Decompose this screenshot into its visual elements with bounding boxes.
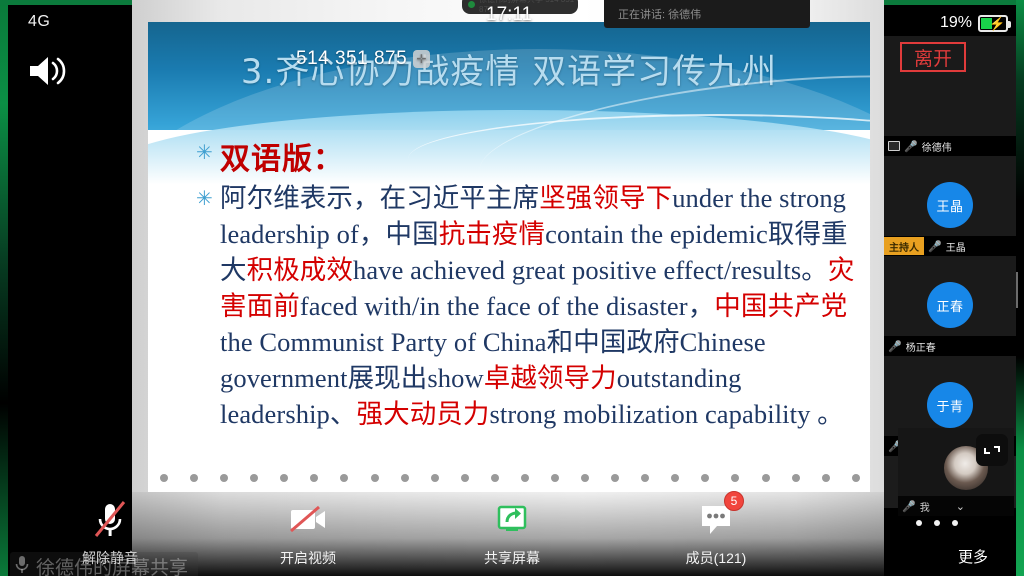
- slide-decor-dot: [401, 474, 409, 482]
- self-view-name: 我: [920, 499, 930, 514]
- slide-heading: 双语版：: [220, 134, 344, 178]
- slide-text-run: 卓越领导力: [484, 363, 617, 393]
- slide-decor-dot: [611, 474, 619, 482]
- slide-body-text: 阿尔维表示，在习近平主席坚强领导下under the strong leader…: [220, 180, 860, 432]
- participant-tile-wangjing[interactable]: 王晶 主持人 🎤 王晶: [884, 156, 1016, 256]
- bullet-star-icon: ✳: [196, 186, 213, 211]
- speaker-volume-icon[interactable]: [26, 53, 70, 89]
- chevron-down-icon[interactable]: ⌄: [956, 500, 965, 513]
- participant-name: 杨正春: [906, 339, 936, 354]
- active-speaker-label: 正在讲话: 徐德伟: [618, 6, 701, 22]
- app-root: 4G 19% ⚡ 3.齐心协力战疫情 双语学习传九州 ✳ 双语版: [0, 0, 1024, 576]
- slide-decor-dot: [731, 474, 739, 482]
- participant-tile-yangzhengchun[interactable]: 正春 🎤 杨正春: [884, 256, 1016, 356]
- slide-text-run: strong mobilization capability 。: [490, 399, 844, 429]
- slide-decor-dot: [461, 474, 469, 482]
- slide-text-run: faced with/in the face of the disaster，: [300, 291, 714, 321]
- slide-decor-dot: [762, 474, 770, 482]
- slide-text-run: 积极成效: [247, 255, 353, 285]
- slide-decor-dot: [491, 474, 499, 482]
- avatar: 于青: [927, 382, 973, 428]
- slide-decor-dot: [310, 474, 318, 482]
- chat-participants-icon: 5: [694, 500, 738, 540]
- avatar: 正春: [927, 282, 973, 328]
- self-view-thumbnail[interactable]: 🎤 我 ⌄: [898, 428, 1014, 516]
- slide-text-run: 阿尔维表示，在习近平主席: [220, 183, 539, 213]
- rail-page-indicator[interactable]: [916, 520, 958, 526]
- slide-text-run: 中国共产党: [714, 291, 847, 321]
- start-video-button[interactable]: 开启视频: [238, 500, 378, 568]
- battery-charging-icon: ⚡: [978, 15, 1008, 32]
- presentation-slide: 3.齐心协力战疫情 双语学习传九州 ✳ 双语版： ✳ 阿尔维表示，在习近平主席坚…: [148, 22, 870, 492]
- slide-decor-dot: [701, 474, 709, 482]
- recording-dot-icon: [468, 1, 475, 8]
- screen-share-icon: [888, 141, 900, 151]
- leave-tile: 离开: [884, 36, 1016, 136]
- host-badge: 主持人: [884, 237, 924, 255]
- status-bar-left: 4G: [8, 5, 132, 130]
- microphone-muted-icon: [88, 500, 132, 540]
- slide-text-run: 抗击疫情: [439, 219, 545, 249]
- slide-decor-dot: [250, 474, 258, 482]
- share-screen-icon: [490, 500, 534, 540]
- share-screen-label: 共享屏幕: [484, 548, 540, 568]
- participant-name: 徐德伟: [922, 139, 952, 154]
- leave-button[interactable]: 离开: [900, 42, 966, 72]
- slide-decor-dot: [190, 474, 198, 482]
- share-owner-banner: 徐德伟的屏幕共享: [10, 552, 198, 576]
- network-label: 4G: [28, 13, 50, 31]
- page-dot[interactable]: [916, 520, 922, 526]
- slide-decor-dot: [371, 474, 379, 482]
- slide-decor-dot: [671, 474, 679, 482]
- slide-text-run: 强大动员力: [357, 399, 490, 429]
- namebar: 🎤 杨正春: [884, 336, 1016, 356]
- page-dot[interactable]: [952, 520, 958, 526]
- device-edge-left: [0, 0, 8, 576]
- slide-decor-dot: [431, 474, 439, 482]
- microphone-muted-icon: 🎤: [888, 340, 902, 353]
- battery-percent-label: 19%: [940, 14, 972, 32]
- bullet-star-icon: ✳: [196, 140, 213, 165]
- meeting-id-label: 514 351 875: [296, 48, 407, 70]
- slide-text-run: 坚强领导下: [539, 183, 672, 213]
- slide-decor-dot: [521, 474, 529, 482]
- page-dot[interactable]: [934, 520, 940, 526]
- unread-badge: 5: [724, 491, 744, 511]
- start-video-label: 开启视频: [280, 548, 336, 568]
- avatar: 王晶: [927, 182, 973, 228]
- meeting-id-watermark: 514 351 875 ✛: [296, 48, 430, 70]
- namebar: 主持人 🎤 王晶: [884, 236, 1016, 256]
- slide-decor-dot: [220, 474, 228, 482]
- self-view-namebar: 🎤 我 ⌄: [898, 496, 1014, 516]
- slide-decor-dot: [792, 474, 800, 482]
- slide-decor-dots: [160, 474, 860, 482]
- more-button[interactable]: 更多: [958, 546, 988, 567]
- microphone-muted-icon: 🎤: [928, 240, 942, 253]
- lock-icon: ✛: [413, 50, 430, 68]
- slide-decor-dot: [340, 474, 348, 482]
- slide-decor-dot: [160, 474, 168, 482]
- participant-namebar-xudewei: 🎤 徐德伟: [884, 136, 1016, 156]
- active-speaker-notice: 正在讲话: 徐德伟: [604, 0, 810, 28]
- slide-text-run: have achieved great positive effect/resu…: [353, 255, 828, 285]
- rail-bottom-backdrop: [884, 508, 1016, 576]
- participant-name: 王晶: [946, 239, 966, 254]
- microphone-muted-icon: 🎤: [902, 500, 916, 513]
- clock-label: 17:11: [486, 4, 532, 26]
- slide-decor-dot: [822, 474, 830, 482]
- participants-button[interactable]: 5 成员(121): [646, 500, 786, 568]
- namebar: 🎤 徐德伟: [884, 136, 1016, 156]
- slide-decor-dot: [852, 474, 860, 482]
- microphone-icon: [14, 554, 30, 576]
- screen-share-viewport[interactable]: 3.齐心协力战疫情 双语学习传九州 ✳ 双语版： ✳ 阿尔维表示，在习近平主席坚…: [132, 0, 884, 576]
- microphone-on-icon: 🎤: [904, 140, 918, 153]
- minimize-icon[interactable]: [976, 434, 1008, 466]
- slide-decor-dot: [641, 474, 649, 482]
- share-owner-label: 徐德伟的屏幕共享: [36, 553, 188, 576]
- slide-decor-dot: [581, 474, 589, 482]
- share-screen-button[interactable]: 共享屏幕: [442, 500, 582, 568]
- slide-decor-dot: [280, 474, 288, 482]
- participants-label: 成员(121): [686, 548, 747, 568]
- video-camera-off-icon: [286, 500, 330, 540]
- slide-decor-dot: [551, 474, 559, 482]
